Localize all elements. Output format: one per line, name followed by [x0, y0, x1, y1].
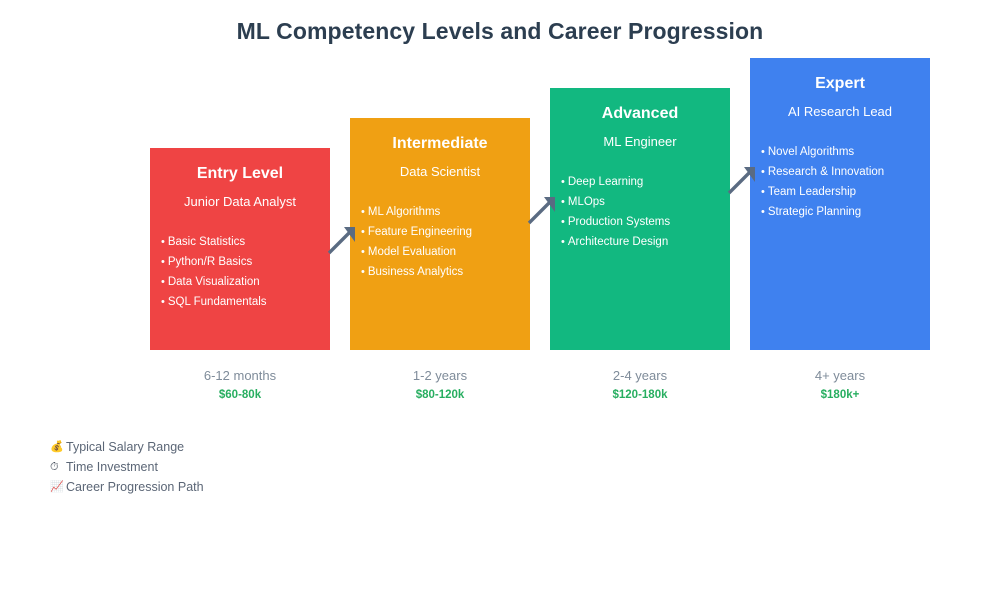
- salary-range-label: $180k+: [750, 389, 930, 401]
- skill-item: •Data Visualization: [161, 272, 330, 292]
- bullet-icon: •: [161, 296, 165, 308]
- level-card-title: Expert: [750, 76, 930, 92]
- legend-label: Typical Salary Range: [66, 437, 184, 457]
- skill-item: •Feature Engineering: [361, 222, 530, 242]
- skill-item: •Strategic Planning: [761, 202, 930, 222]
- bullet-icon: •: [761, 186, 765, 198]
- legend-item-time: ⏱ Time Investment: [50, 457, 204, 477]
- skill-label: Architecture Design: [568, 236, 668, 248]
- level-card-intermediate[interactable]: Intermediate Data Scientist •ML Algorith…: [350, 118, 530, 350]
- skill-item: •Production Systems: [561, 212, 730, 232]
- skill-label: Business Analytics: [368, 266, 463, 278]
- progression-arrow-2: [526, 194, 558, 231]
- progression-arrow-1: [326, 224, 358, 261]
- page-title: ML Competency Levels and Career Progress…: [0, 18, 1000, 45]
- skill-label: Deep Learning: [568, 176, 643, 188]
- legend-label: Career Progression Path: [66, 477, 204, 497]
- skill-label: ML Algorithms: [368, 206, 440, 218]
- bullet-icon: •: [361, 226, 365, 238]
- skill-label: Strategic Planning: [768, 206, 861, 218]
- skill-item: •Business Analytics: [361, 262, 530, 282]
- time-investment-label: 2-4 years: [550, 368, 730, 383]
- skill-label: Research & Innovation: [768, 166, 884, 178]
- chart-canvas: ML Competency Levels and Career Progress…: [0, 0, 1000, 600]
- legend-item-salary: 💰 Typical Salary Range: [50, 437, 204, 457]
- level-card-entry[interactable]: Entry Level Junior Data Analyst •Basic S…: [150, 148, 330, 350]
- skill-list: •Basic Statistics •Python/R Basics •Data…: [150, 232, 330, 312]
- stopwatch-icon: ⏱: [50, 457, 66, 477]
- bullet-icon: •: [561, 216, 565, 228]
- bullet-icon: •: [361, 266, 365, 278]
- bullet-icon: •: [761, 166, 765, 178]
- level-card-title: Entry Level: [150, 166, 330, 182]
- level-card-expert[interactable]: Expert AI Research Lead •Novel Algorithm…: [750, 58, 930, 350]
- skill-item: •Model Evaluation: [361, 242, 530, 262]
- arrow-up-right-icon: [726, 164, 758, 196]
- bullet-icon: •: [161, 236, 165, 248]
- skill-item: •Research & Innovation: [761, 162, 930, 182]
- bullet-icon: •: [561, 176, 565, 188]
- skill-item: •Team Leadership: [761, 182, 930, 202]
- skill-label: Feature Engineering: [368, 226, 472, 238]
- level-card-role: Junior Data Analyst: [150, 195, 330, 208]
- skill-label: Data Visualization: [168, 276, 260, 288]
- skill-label: SQL Fundamentals: [168, 296, 267, 308]
- skill-item: •Novel Algorithms: [761, 142, 930, 162]
- skill-label: Model Evaluation: [368, 246, 456, 258]
- skill-label: Novel Algorithms: [768, 146, 854, 158]
- bullet-icon: •: [361, 206, 365, 218]
- skill-label: MLOps: [568, 196, 605, 208]
- level-card-role: AI Research Lead: [750, 105, 930, 118]
- salary-range-label: $120-180k: [550, 389, 730, 401]
- chart-increasing-icon: 📈: [50, 477, 66, 497]
- skill-item: •Basic Statistics: [161, 232, 330, 252]
- time-investment-label: 1-2 years: [350, 368, 530, 383]
- skill-item: •ML Algorithms: [361, 202, 530, 222]
- level-card-role: ML Engineer: [550, 135, 730, 148]
- progression-arrow-3: [726, 164, 758, 201]
- bullet-icon: •: [761, 146, 765, 158]
- level-card-role: Data Scientist: [350, 165, 530, 178]
- bullet-icon: •: [561, 236, 565, 248]
- skill-item: •MLOps: [561, 192, 730, 212]
- salary-range-label: $80-120k: [350, 389, 530, 401]
- legend-item-progression: 📈 Career Progression Path: [50, 477, 204, 497]
- skill-list: •Novel Algorithms •Research & Innovation…: [750, 142, 930, 222]
- skill-label: Basic Statistics: [168, 236, 245, 248]
- time-investment-label: 4+ years: [750, 368, 930, 383]
- skill-item: •Python/R Basics: [161, 252, 330, 272]
- legend-label: Time Investment: [66, 457, 158, 477]
- level-card-title: Intermediate: [350, 136, 530, 152]
- arrow-up-right-icon: [326, 224, 358, 256]
- bullet-icon: •: [161, 256, 165, 268]
- bullet-icon: •: [761, 206, 765, 218]
- skill-item: •Architecture Design: [561, 232, 730, 252]
- bullet-icon: •: [361, 246, 365, 258]
- level-card-advanced[interactable]: Advanced ML Engineer •Deep Learning •MLO…: [550, 88, 730, 350]
- time-investment-label: 6-12 months: [150, 368, 330, 383]
- skill-item: •SQL Fundamentals: [161, 292, 330, 312]
- skill-list: •Deep Learning •MLOps •Production System…: [550, 172, 730, 252]
- level-card-title: Advanced: [550, 106, 730, 122]
- skill-label: Production Systems: [568, 216, 670, 228]
- legend: 💰 Typical Salary Range ⏱ Time Investment…: [50, 437, 204, 497]
- arrow-up-right-icon: [526, 194, 558, 226]
- bullet-icon: •: [161, 276, 165, 288]
- salary-range-label: $60-80k: [150, 389, 330, 401]
- skill-label: Team Leadership: [768, 186, 856, 198]
- skill-item: •Deep Learning: [561, 172, 730, 192]
- bullet-icon: •: [561, 196, 565, 208]
- money-bag-icon: 💰: [50, 437, 66, 457]
- skill-list: •ML Algorithms •Feature Engineering •Mod…: [350, 202, 530, 282]
- skill-label: Python/R Basics: [168, 256, 252, 268]
